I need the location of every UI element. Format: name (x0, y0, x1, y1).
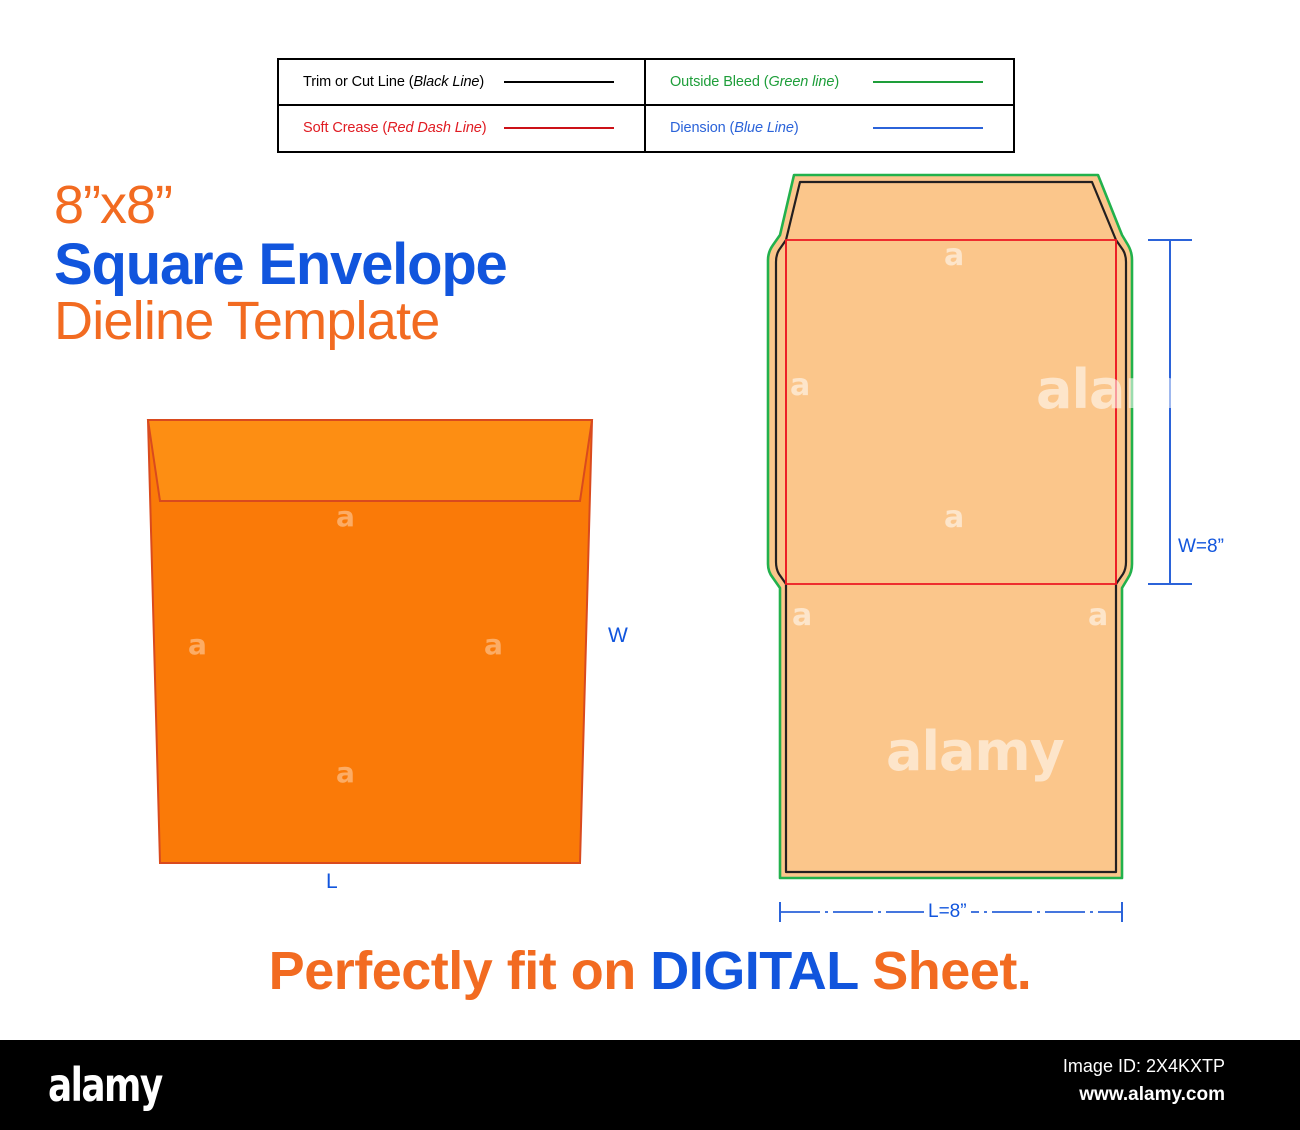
dimension-w-label: W=8” (1174, 535, 1228, 559)
legend-text-close: ) (479, 74, 484, 90)
legend-row-trim-or-cut-line: Trim or Cut Line (Black Line) (279, 60, 646, 106)
legend-swatch-red-line (504, 127, 614, 129)
legend-text-italic: Black Line (413, 74, 479, 90)
legend-text-plain: Outside Bleed ( (670, 74, 768, 90)
legend-text-close: ) (794, 120, 799, 136)
page-title: Square Envelope (54, 234, 634, 295)
trim-cut-path (776, 182, 1126, 872)
legend-text-close: ) (482, 120, 487, 136)
legend-table: Trim or Cut Line (Black Line) Outside Bl… (277, 58, 1015, 153)
envelope-length-label: L (326, 870, 338, 894)
tagline-part1: Perfectly fit on (269, 941, 651, 1001)
dieline-illustration: W=8” L=8” a a alamy a a a alamy (740, 160, 1210, 940)
title-size: 8”x8” (54, 178, 634, 232)
legend-text-italic: Blue Line (734, 120, 794, 136)
legend-text-plain: Soft Crease ( (303, 120, 387, 136)
dieline-svg (740, 160, 1210, 940)
dimension-l-label: L=8” (924, 900, 971, 924)
legend-label-trim-or-cut-line: Trim or Cut Line (Black Line) (303, 74, 484, 90)
title-subtitle: Dieline Template (54, 293, 634, 350)
image-id-label: Image ID: 2X4KXTP (1063, 1056, 1225, 1077)
legend-text-italic: Red Dash Line (387, 120, 482, 136)
legend-text-plain: Trim or Cut Line ( (303, 74, 413, 90)
legend-text-italic: Green line (768, 74, 834, 90)
alamy-footer-bar: alamy Image ID: 2X4KXTP www.alamy.com (0, 1040, 1300, 1130)
legend-row-dimension: Diension (Blue Line) (646, 106, 1013, 152)
envelope-flap (148, 420, 592, 501)
legend-label-outside-bleed: Outside Bleed (Green line) (670, 74, 839, 90)
legend-text-plain: Diension ( (670, 120, 734, 136)
alamy-logo: alamy (48, 1058, 162, 1112)
legend-row-outside-bleed: Outside Bleed (Green line) (646, 60, 1013, 106)
legend-swatch-green-line (873, 81, 983, 83)
envelope-svg (130, 408, 630, 918)
legend-label-dimension: Diension (Blue Line) (670, 120, 799, 136)
legend-row-soft-crease: Soft Crease (Red Dash Line) (279, 106, 646, 152)
tagline-highlight: DIGITAL (650, 941, 858, 1001)
tagline: Perfectly fit on DIGITAL Sheet. (0, 940, 1300, 1002)
envelope-width-label: W (608, 624, 628, 648)
tagline-part2: Sheet. (858, 941, 1032, 1001)
title-block: 8”x8” Square Envelope Dieline Template (54, 178, 634, 351)
legend-text-close: ) (834, 74, 839, 90)
legend-swatch-blue-line (873, 127, 983, 129)
envelope-illustration: a a a a (130, 408, 630, 918)
legend-swatch-black-line (504, 81, 614, 83)
alamy-url-label: www.alamy.com (1079, 1084, 1225, 1106)
legend-label-soft-crease: Soft Crease (Red Dash Line) (303, 120, 486, 136)
